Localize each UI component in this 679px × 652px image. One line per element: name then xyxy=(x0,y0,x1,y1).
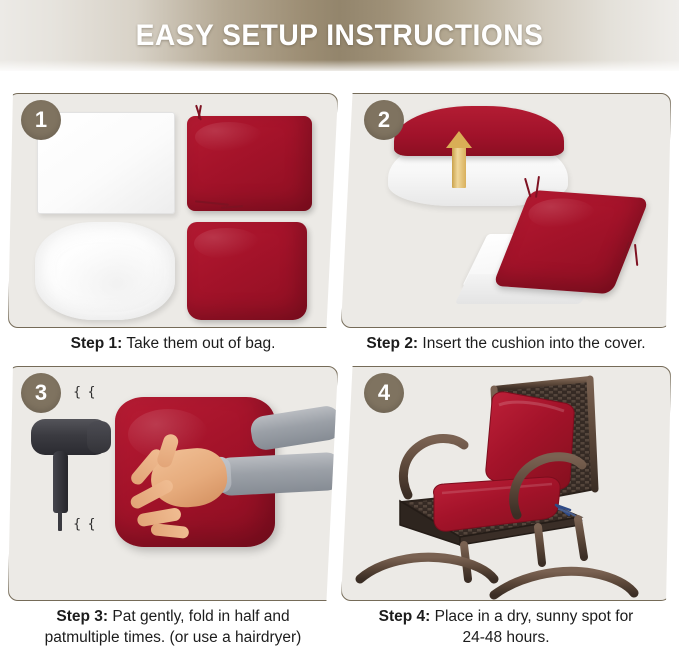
red-cushion-cover-top xyxy=(187,116,312,211)
page-title: EASY SETUP INSTRUCTIONS xyxy=(20,0,658,71)
step-label-1: Step 1: xyxy=(71,335,123,352)
hairdryer-cord-icon xyxy=(58,511,62,531)
step-text-2: Insert the cushion into the cover. xyxy=(418,335,645,352)
step-text-4-line2: 24-48 hours. xyxy=(341,628,671,649)
red-cushion-cover-bottom xyxy=(187,222,307,320)
heat-squiggle-icon: { { xyxy=(73,387,97,398)
step-card-2: 2 Step 2: Insert the cushion into the co… xyxy=(341,93,671,328)
heat-squiggle-icon: { { xyxy=(73,519,97,530)
step-text-3-line2: patmultiple times. (or use a hairdryer) xyxy=(8,628,338,649)
arrow-up-shaft xyxy=(452,146,466,188)
tie-strap-icon xyxy=(634,244,638,266)
step-panel-3: { { { { 3 xyxy=(8,366,338,601)
step-badge-1: 1 xyxy=(21,100,61,140)
step-caption-2: Step 2: Insert the cushion into the cove… xyxy=(341,334,671,355)
step-text-4: Place in a dry, sunny spot for xyxy=(430,608,633,625)
step-card-4: 4 Step 4: Place in a dry, sunny spot for… xyxy=(341,366,671,601)
step-panel-1: 1 xyxy=(8,93,338,328)
step-text-3: Pat gently, fold in half and xyxy=(108,608,290,625)
arrow-up-head-icon xyxy=(446,131,472,148)
step-label-4: Step 4: xyxy=(379,608,431,625)
step-badge-3: 3 xyxy=(21,373,61,413)
step-caption-1: Step 1: Take them out of bag. xyxy=(8,334,338,355)
steps-grid: 1 Step 1: Take them out of bag. xyxy=(0,71,679,652)
step-label-2: Step 2: xyxy=(366,335,418,352)
hairdryer-cap-icon xyxy=(87,421,111,453)
step-text-1: Take them out of bag. xyxy=(122,335,275,352)
step-label-3: Step 3: xyxy=(56,608,108,625)
step-card-1: 1 Step 1: Take them out of bag. xyxy=(8,93,338,328)
step-caption-4: Step 4: Place in a dry, sunny spot for 2… xyxy=(341,607,671,649)
hairdryer-handle-icon xyxy=(53,451,68,513)
step-caption-3: Step 3: Pat gently, fold in half and pat… xyxy=(8,607,338,649)
step-panel-2: 2 xyxy=(341,93,671,328)
sleeve-lower xyxy=(216,452,338,496)
header-banner: EASY SETUP INSTRUCTIONS xyxy=(0,0,679,71)
step-card-3: { { { { 3 Step 3: Pat gen xyxy=(8,366,338,601)
step-badge-2: 2 xyxy=(364,100,404,140)
step-panel-4: 4 xyxy=(341,366,671,601)
red-cover-band xyxy=(394,106,564,156)
white-pillow-insert xyxy=(35,222,175,320)
step-badge-4: 4 xyxy=(364,373,404,413)
